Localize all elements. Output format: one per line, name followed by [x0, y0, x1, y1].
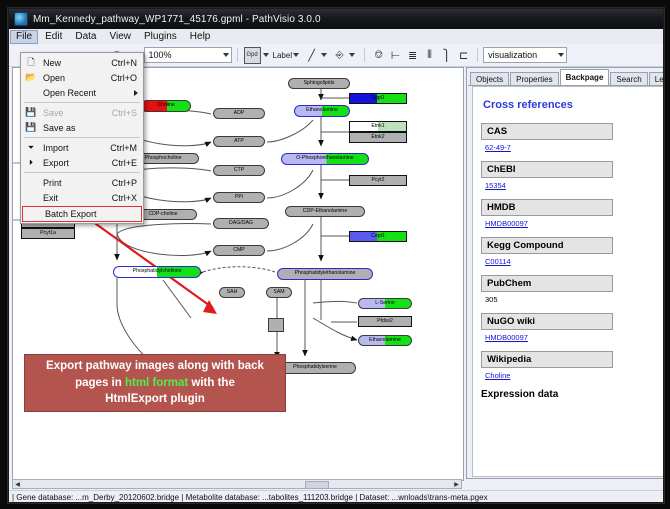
gene-pcyt2[interactable]: Pcyt2 — [349, 175, 407, 186]
menu-edit[interactable]: Edit — [39, 30, 68, 44]
save-disk-icon: 💾 — [23, 106, 39, 119]
gene-cept1[interactable]: Cept1 — [349, 231, 407, 242]
xref-header-kegg: Kegg Compound — [481, 237, 613, 254]
scroll-right-icon[interactable]: ▶ — [452, 480, 461, 488]
node-sah[interactable]: SAH — [219, 287, 245, 298]
status-text: | Gene database: ...m_Derby_20120602.bri… — [9, 493, 488, 502]
pathvisio-window: Mm_Kennedy_pathway_WP1771_45176.gpml - P… — [8, 8, 664, 503]
banner-line3: HtmlExport plugin — [105, 393, 205, 405]
node-phosphatidylserine[interactable]: Phosphatidylserine — [274, 362, 356, 374]
file-menu-popup[interactable]: 🗋 New Ctrl+N 📂 Open Ctrl+O Open Recent 💾… — [20, 52, 144, 224]
stack-bottom-tool-icon[interactable]: ⎫ — [439, 48, 454, 63]
status-bar: | Gene database: ...m_Derby_20120602.bri… — [9, 490, 663, 503]
blank-icon-4 — [25, 208, 41, 221]
tab-properties[interactable]: Properties — [510, 72, 558, 85]
node-atp[interactable]: ATP — [213, 136, 265, 147]
xref-value-wikipedia[interactable]: Choline — [485, 371, 660, 380]
menu-item-open-recent[interactable]: Open Recent — [21, 85, 143, 100]
toolbar-separator-2 — [364, 48, 365, 62]
xref-value-chebi[interactable]: 15354 — [485, 181, 660, 190]
node-ethanolamine-2[interactable]: Ethanolamine — [358, 335, 412, 346]
window-title: Mm_Kennedy_pathway_WP1771_45176.gpml - P… — [33, 14, 321, 25]
xref-header-nugo: NuGO wiki — [481, 313, 613, 330]
align-left-tool-icon[interactable]: ⊢ — [388, 48, 403, 63]
label-tool-icon[interactable]: Label — [273, 51, 293, 60]
gene-sgpl1[interactable]: Sgpl1 — [349, 93, 407, 104]
blank-icon-2 — [23, 176, 39, 189]
banner-highlight: html format — [125, 377, 188, 389]
xref-header-cas: CAS — [481, 123, 613, 140]
scroll-left-icon[interactable]: ◀ — [13, 480, 22, 488]
xref-value-hmdb[interactable]: HMDB00097 — [485, 219, 660, 228]
toolbar-separator — [237, 48, 238, 62]
side-panel: Objects Properties Backpage Search Legen… — [466, 67, 664, 479]
visualization-value: visualization — [488, 50, 537, 60]
shape-dropdown-icon[interactable] — [349, 53, 355, 57]
menu-help[interactable]: Help — [184, 30, 217, 44]
menu-view[interactable]: View — [103, 30, 137, 44]
menu-item-exit[interactable]: Exit Ctrl+X — [21, 190, 143, 205]
tab-backpage[interactable]: Backpage — [560, 69, 610, 85]
xref-header-pubchem: PubChem — [481, 275, 613, 292]
label-dropdown-icon[interactable] — [293, 53, 299, 57]
tab-objects[interactable]: Objects — [470, 72, 509, 85]
side-panel-tabs: Objects Properties Backpage Search Legen… — [468, 69, 664, 86]
xref-value-cas[interactable]: 62-49-7 — [485, 143, 660, 152]
node-cdp-ethanolamine[interactable]: CDP-Ethanolamine — [285, 206, 365, 217]
node-choline-top[interactable]: Choline — [141, 100, 191, 112]
expression-data-heading: Expression data — [481, 389, 660, 400]
toolbar-separator-3 — [477, 48, 478, 62]
menu-item-save: 💾 Save Ctrl+S — [21, 105, 143, 120]
node-sam[interactable]: SAM — [266, 287, 292, 298]
screen-background: Mm_Kennedy_pathway_WP1771_45176.gpml - P… — [0, 0, 670, 509]
zoom-value: 100% — [149, 50, 172, 60]
menu-file[interactable]: File — [10, 30, 38, 44]
menu-item-save-as[interactable]: 💾 Save as — [21, 120, 143, 135]
pathway-anchor-block — [268, 318, 284, 332]
menu-item-open[interactable]: 📂 Open Ctrl+O — [21, 70, 143, 85]
xref-value-kegg[interactable]: C00114 — [485, 257, 660, 266]
gene-product-tool-icon[interactable]: Gpd — [244, 47, 261, 64]
canvas-hscrollbar[interactable]: ◀ ▶ — [12, 479, 462, 489]
backpage-content: Cross references CAS 62-49-7 ChEBI 15354… — [472, 86, 664, 477]
chevron-down-icon — [223, 53, 229, 57]
tab-search[interactable]: Search — [610, 72, 647, 85]
node-adp[interactable]: ADP — [213, 108, 265, 119]
menu-item-new[interactable]: 🗋 New Ctrl+N — [21, 55, 143, 70]
import-icon: ⏷ — [23, 141, 39, 154]
banner-line1: Export pathway images along with back — [46, 360, 264, 372]
export-icon: ⏵ — [23, 156, 39, 169]
pathvisio-icon — [14, 12, 28, 26]
menu-bar: File Edit Data View Plugins Help — [9, 29, 663, 45]
node-sphingolipids[interactable]: Sphingolipids — [288, 78, 350, 89]
visualization-combo[interactable]: visualization — [483, 47, 567, 63]
line-dropdown-icon[interactable] — [321, 53, 327, 57]
group-tool-icon[interactable]: ⊏ — [456, 48, 471, 63]
menu-separator-2 — [24, 137, 140, 138]
xref-value-pubchem: 305 — [485, 295, 660, 304]
menu-item-import[interactable]: ⏷ Import Ctrl+M — [21, 140, 143, 155]
align-top-tool-icon[interactable]: ⎊ — [371, 48, 386, 63]
gene-ptdss2[interactable]: Ptdss2 — [358, 316, 412, 327]
menu-plugins[interactable]: Plugins — [138, 30, 183, 44]
tab-legend[interactable]: Legend — [649, 72, 664, 85]
banner-line2-pre: pages in — [75, 377, 125, 389]
menu-item-batch-export[interactable]: Batch Export — [22, 206, 142, 222]
node-o-phosphoethanolamine[interactable]: O-Phosphoethanolamine — [281, 153, 369, 165]
menu-item-print[interactable]: Print Ctrl+P — [21, 175, 143, 190]
node-dag[interactable]: DAG/DAG — [213, 218, 269, 229]
title-bar: Mm_Kennedy_pathway_WP1771_45176.gpml - P… — [9, 9, 663, 29]
gene-etnk2[interactable]: Etnk2 — [349, 132, 407, 143]
new-file-icon: 🗋 — [23, 56, 39, 69]
gene-etnk1[interactable]: Etnk1 — [349, 121, 407, 132]
blank-icon — [23, 86, 39, 99]
node-ethanolamine[interactable]: Ethanolamine — [294, 105, 350, 117]
align-rows-tool-icon[interactable]: ≣ — [405, 48, 420, 63]
gene-pcyt1a[interactable]: Pcyt1a — [21, 228, 75, 239]
xref-header-hmdb: HMDB — [481, 199, 613, 216]
blank-icon-3 — [23, 191, 39, 204]
menu-item-export[interactable]: ⏵ Export Ctrl+E — [21, 155, 143, 170]
submenu-arrow-icon — [134, 90, 138, 96]
zoom-combo[interactable]: 100% — [144, 47, 232, 63]
menu-separator-1 — [24, 102, 140, 103]
gene-product-dropdown-icon[interactable] — [263, 53, 269, 57]
open-folder-icon: 📂 — [23, 71, 39, 84]
line-tool-icon[interactable]: ╱ — [304, 48, 319, 63]
banner-line2-post: with the — [188, 377, 235, 389]
shape-connector-tool-icon[interactable]: ⎆ — [332, 48, 347, 63]
save-as-icon: 💾 — [23, 121, 39, 134]
xref-header-chebi: ChEBI — [481, 161, 613, 178]
node-cmp[interactable]: CMP — [213, 245, 265, 256]
node-ppi[interactable]: PPi — [213, 192, 265, 203]
cross-references-title: Cross references — [483, 99, 660, 111]
annotation-banner: Export pathway images along with back pa… — [24, 354, 286, 412]
align-columns-tool-icon[interactable]: ⦀ — [422, 48, 437, 63]
menu-data[interactable]: Data — [69, 30, 102, 44]
xref-header-wikipedia: Wikipedia — [481, 351, 613, 368]
hscroll-thumb[interactable] — [305, 481, 329, 489]
chevron-down-icon-2 — [558, 53, 564, 57]
menu-separator-3 — [24, 172, 140, 173]
node-ctp[interactable]: CTP — [213, 165, 265, 176]
xref-value-nugo[interactable]: HMDB00097 — [485, 333, 660, 342]
node-phosphatidylcholines[interactable]: Phosphatidylcholines — [113, 266, 201, 278]
node-l-serine[interactable]: L-Serine — [358, 298, 412, 309]
node-phosphatidylethanolamine[interactable]: Phosphatidylethanolamine — [277, 268, 373, 280]
